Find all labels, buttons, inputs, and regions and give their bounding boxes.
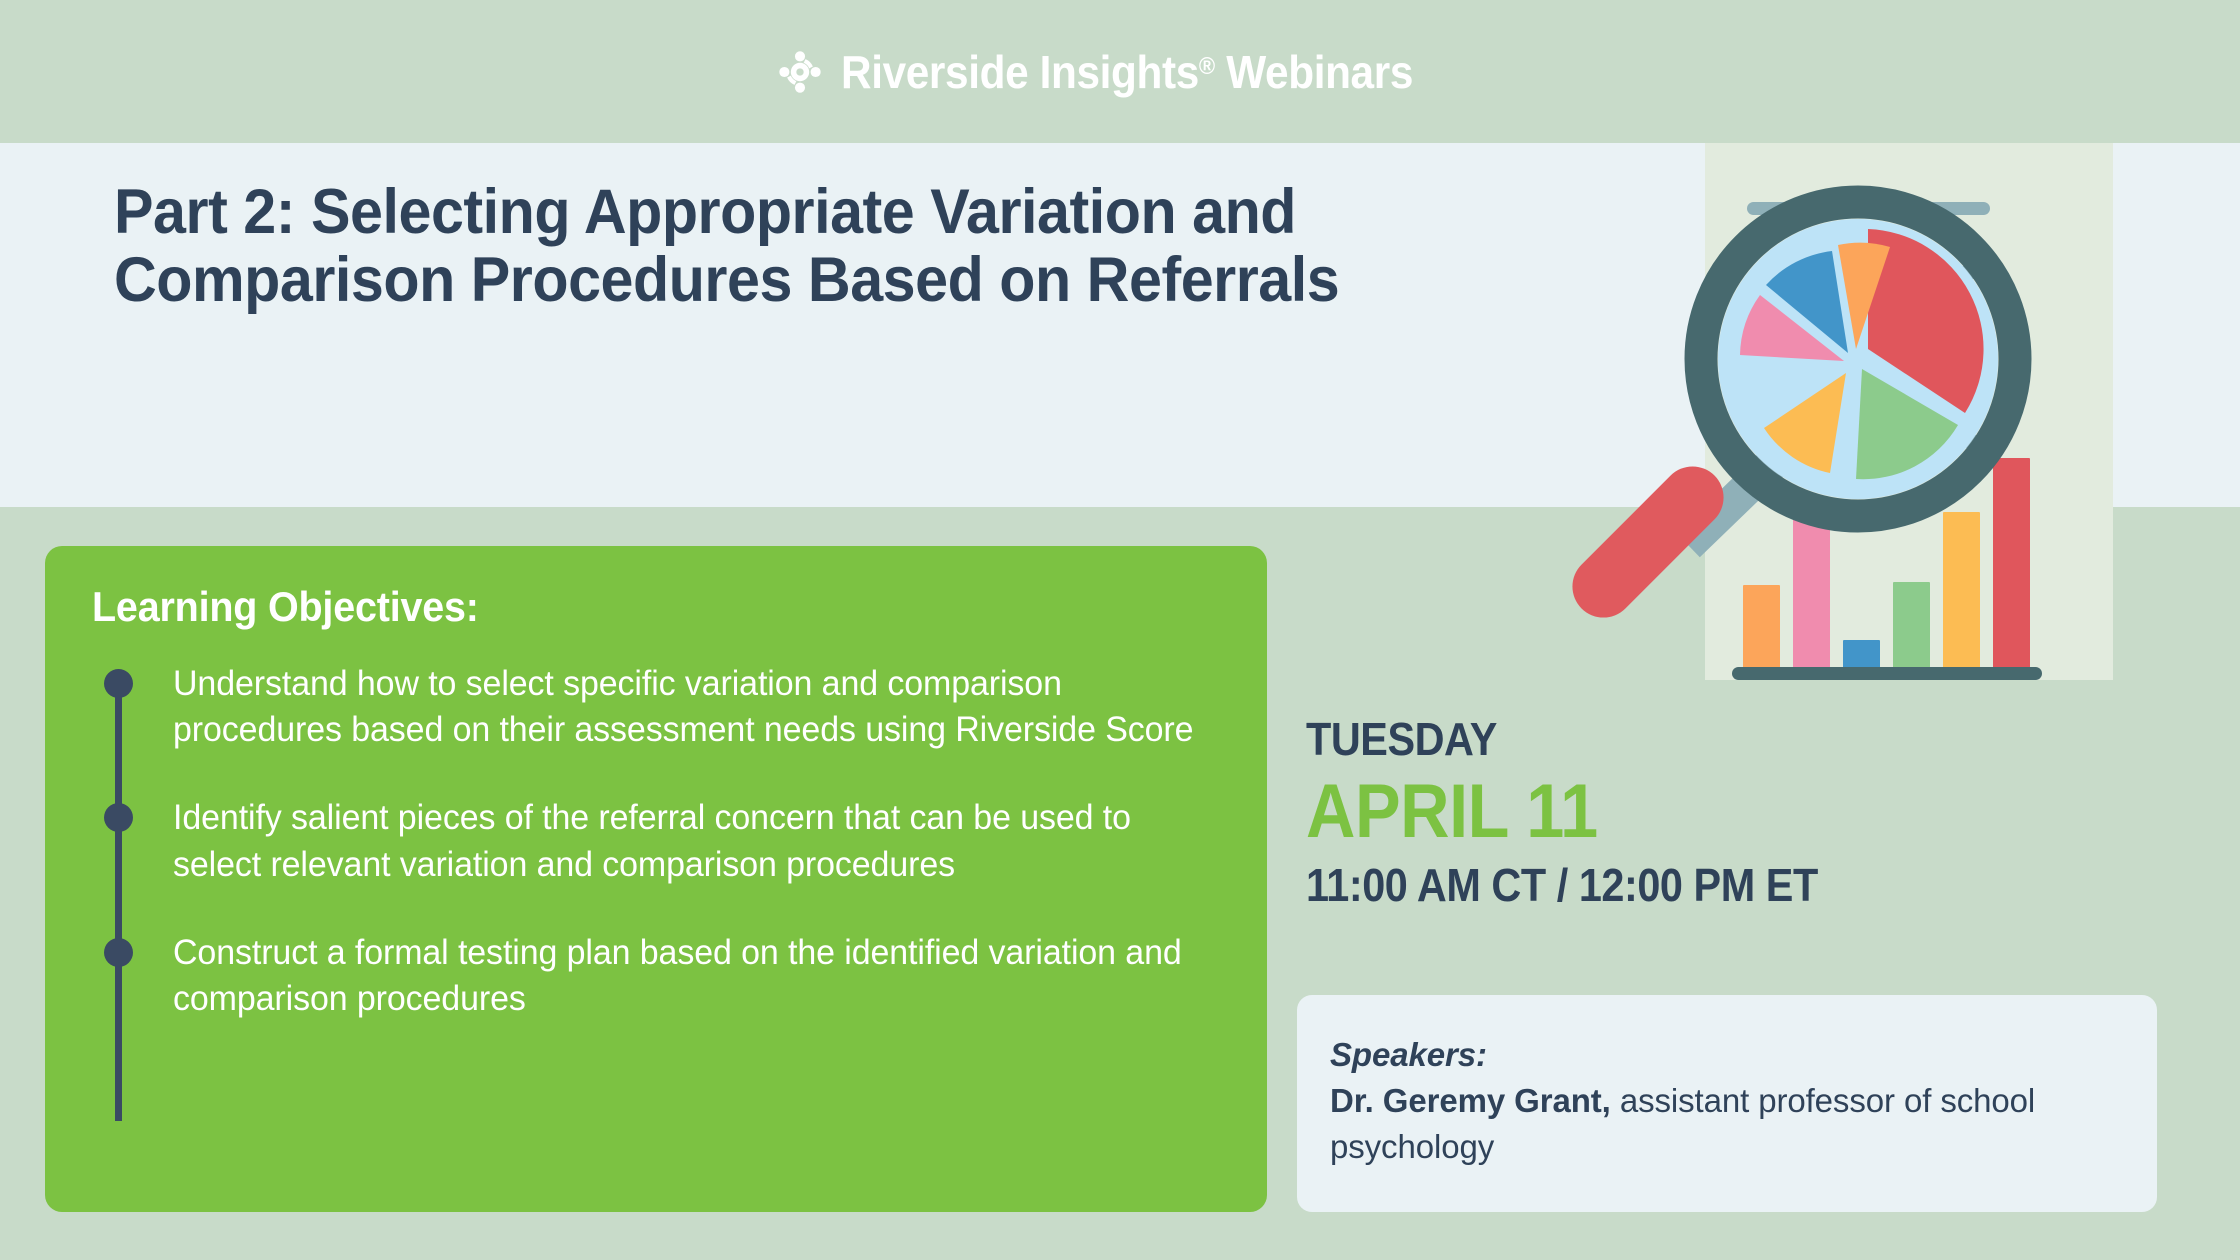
brand-name: Riverside Insights	[841, 46, 1199, 98]
page-title: Part 2: Selecting Appropriate Variation …	[114, 178, 1505, 314]
magnifying-glass-illustration	[1560, 143, 2160, 703]
objective-bullet-icon	[104, 803, 133, 832]
objective-connector-line	[115, 683, 122, 1121]
date-weekday: TUESDAY	[1306, 715, 2026, 765]
objective-text: Identify salient pieces of the referral …	[173, 795, 1201, 887]
riverside-pinwheel-logo-icon	[777, 49, 823, 95]
learning-objectives-box: Learning Objectives: Understand how to s…	[45, 546, 1267, 1212]
webinar-date-block: TUESDAY APRIL 11 11:00 AM CT / 12:00 PM …	[1306, 715, 2106, 910]
learning-objectives-list: Understand how to select specific variat…	[73, 661, 1233, 1022]
objective-text: Understand how to select specific variat…	[173, 661, 1201, 753]
objective-text: Construct a formal testing plan based on…	[173, 930, 1201, 1022]
speakers-card: Speakers: Dr. Geremy Grant, assistant pr…	[1297, 995, 2157, 1212]
objective-bullet-icon	[104, 938, 133, 967]
objective-item: Identify salient pieces of the referral …	[73, 795, 1233, 887]
header-title: Riverside Insights® Webinars	[841, 45, 1413, 99]
objective-item: Construct a formal testing plan based on…	[73, 930, 1233, 1022]
date-time: 11:00 AM CT / 12:00 PM ET	[1306, 860, 2026, 911]
objective-bullet-icon	[104, 669, 133, 698]
speakers-content: Speakers: Dr. Geremy Grant, assistant pr…	[1330, 1032, 2130, 1171]
objective-item: Understand how to select specific variat…	[73, 661, 1233, 753]
date-day: APRIL 11	[1306, 769, 2026, 854]
header-suffix: Webinars	[1215, 46, 1413, 98]
learning-objectives-heading: Learning Objectives:	[92, 583, 479, 631]
magnifier-icon	[1560, 143, 2160, 703]
brand-header: Riverside Insights® Webinars	[0, 0, 2240, 143]
registered-mark: ®	[1199, 53, 1215, 80]
speaker-name: Dr. Geremy Grant,	[1330, 1082, 1611, 1119]
speakers-label: Speakers:	[1330, 1032, 2130, 1078]
